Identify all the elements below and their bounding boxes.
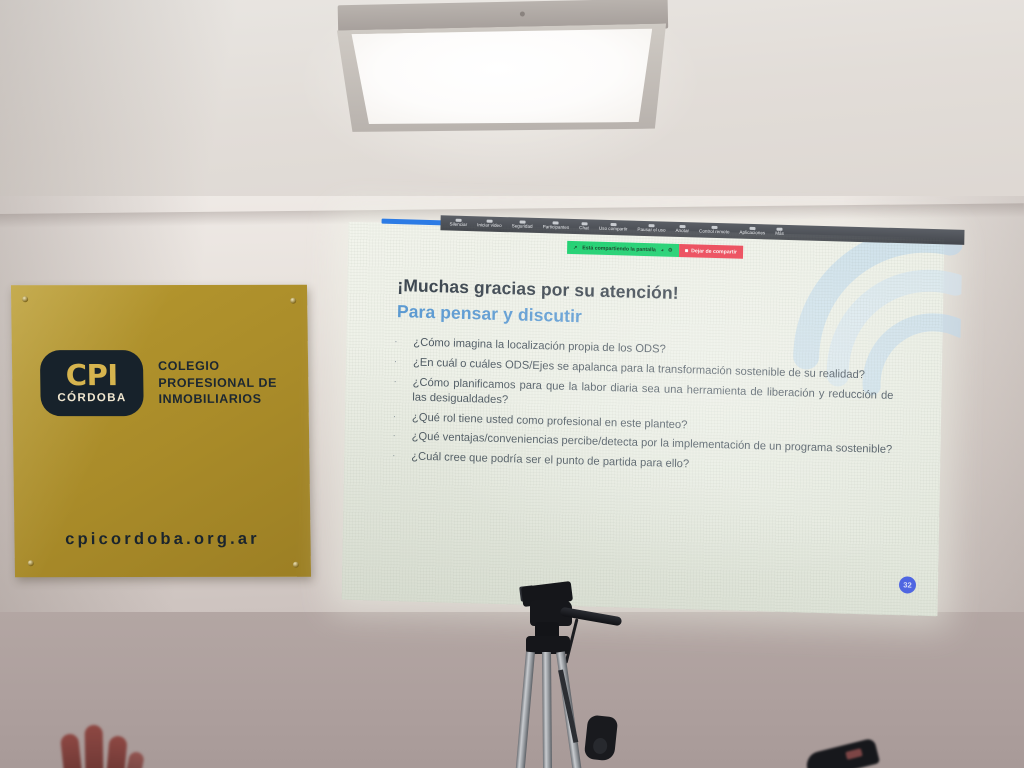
zoom-toolbar-item-control-remoto[interactable]: Control remoto <box>694 225 735 235</box>
tripod-accessory-pouch <box>584 715 618 762</box>
share-screen-icon <box>610 223 616 227</box>
zoom-item-label: Chat <box>579 227 589 232</box>
screw-icon <box>28 560 34 566</box>
ceiling-light-fixture <box>328 0 669 139</box>
finger <box>85 725 104 768</box>
slide-number-badge: 32 <box>899 576 916 593</box>
ellipsis-icon <box>777 228 783 232</box>
zoom-item-label: Pausar el uso <box>637 228 665 233</box>
camera-tripod <box>508 578 648 768</box>
shield-icon <box>519 220 525 224</box>
zoom-item-label: Seguridad <box>512 225 533 230</box>
hand <box>56 712 156 768</box>
zoom-active-indicator-bar <box>382 219 444 226</box>
cpi-wall-sign: CPI CÓRDOBA COLEGIO PROFESIONAL DE INMOB… <box>11 285 311 577</box>
zoom-item-label: Uso compartir <box>599 227 628 232</box>
sharing-status-actions[interactable]: ◕ ⚙ <box>661 247 673 253</box>
slide-bullet-list: · ¿Cómo imagina la localización propia d… <box>392 335 894 483</box>
pencil-icon <box>679 225 685 229</box>
volume-icon[interactable]: ◕ <box>661 247 664 253</box>
bullet-dot-icon: · <box>394 335 404 350</box>
screw-icon <box>290 298 296 304</box>
zoom-toolbar-item-chat[interactable]: Chat <box>574 222 594 232</box>
zoom-toolbar-item-uso-compartir[interactable]: Uso compartir <box>594 223 633 233</box>
bullet-dot-icon: · <box>394 355 404 370</box>
org-line-1: COLEGIO <box>158 358 277 375</box>
zoom-item-label: Silenciar <box>449 223 467 228</box>
cpi-logo-city: CÓRDOBA <box>57 393 126 405</box>
sharing-status-banner: ↗ Está compartiendo la pantalla ◕ ⚙ <box>567 241 679 257</box>
stop-share-button[interactable]: Dejar de compartir <box>678 244 743 259</box>
sign-org-name: COLEGIO PROFESIONAL DE INMOBILIARIOS <box>158 358 277 408</box>
finger <box>60 733 82 768</box>
bottom-right-object <box>806 738 884 768</box>
cpi-logo-mark: CPI <box>66 361 118 390</box>
zoom-toolbar-item-seguridad[interactable]: Seguridad <box>507 220 538 230</box>
zoom-item-label: Aplicaciones <box>739 231 765 236</box>
light-bracket-screw <box>519 11 524 16</box>
screw-icon <box>22 296 28 302</box>
slide-subtitle: Para pensar y discutir <box>397 301 582 327</box>
zoom-toolbar-item-pausar-el-uso[interactable]: Pausar el uso <box>632 224 670 234</box>
cpi-logo-badge: CPI CÓRDOBA <box>40 350 144 416</box>
zoom-item-label: Iniciar video <box>477 224 502 229</box>
video-camera-icon <box>486 220 492 224</box>
zoom-item-label: Control remoto <box>699 230 729 235</box>
sign-logo-row: CPI CÓRDOBA COLEGIO PROFESIONAL DE INMOB… <box>40 350 278 416</box>
tripod-leg <box>542 652 552 768</box>
tripod-leg <box>516 652 535 768</box>
zoom-sharing-strip: ↗ Está compartiendo la pantalla ◕ ⚙ Deja… <box>567 241 743 259</box>
zoom-toolbar-item-anotar[interactable]: Anotar <box>670 225 694 235</box>
org-line-3: INMOBILIARIOS <box>158 391 277 408</box>
remote-control-icon <box>711 226 717 230</box>
microphone-icon <box>455 219 461 223</box>
screw-icon <box>293 562 299 568</box>
zoom-toolbar-item-iniciar-video[interactable]: Iniciar video <box>472 219 507 229</box>
bullet-dot-icon: · <box>393 375 404 405</box>
pause-icon <box>649 224 655 228</box>
bullet-dot-icon: · <box>393 410 403 425</box>
screen-share-icon: ↗ <box>573 244 577 250</box>
zoom-toolbar-item-participantes[interactable]: Participantes <box>538 221 575 231</box>
sharing-status-label: Está compartiendo la pantalla <box>582 245 656 253</box>
projection-screen: Silenciar Iniciar video Seguridad Partic… <box>342 222 945 617</box>
zoom-toolbar-item-silenciar[interactable]: Silenciar <box>444 218 472 228</box>
zoom-item-label: Más <box>775 232 784 237</box>
led-panel-icon <box>342 28 654 128</box>
chat-bubble-icon <box>581 222 587 226</box>
finger <box>106 735 127 768</box>
bullet-dot-icon: · <box>392 449 402 464</box>
zoom-toolbar-item-mas[interactable]: Más <box>770 227 789 237</box>
sign-website-url: cpicordoba.org.ar <box>14 530 310 550</box>
participants-icon <box>553 221 559 225</box>
zoom-item-label: Participantes <box>543 226 570 231</box>
org-line-2: PROFESIONAL DE <box>158 374 277 391</box>
slide-title: ¡Muchas gracias por su atención! <box>397 275 679 304</box>
room-scene: CPI CÓRDOBA COLEGIO PROFESIONAL DE INMOB… <box>0 0 1024 768</box>
object-body <box>804 738 880 768</box>
zoom-toolbar-item-aplicaciones[interactable]: Aplicaciones <box>734 226 770 236</box>
bullet-dot-icon: · <box>392 429 402 444</box>
zoom-item-label: Anotar <box>675 229 689 234</box>
stop-share-label: Dejar de compartir <box>691 248 737 255</box>
gear-icon[interactable]: ⚙ <box>668 247 673 253</box>
finger <box>126 751 145 768</box>
stop-square-icon <box>685 249 689 253</box>
apps-grid-icon <box>749 227 755 231</box>
